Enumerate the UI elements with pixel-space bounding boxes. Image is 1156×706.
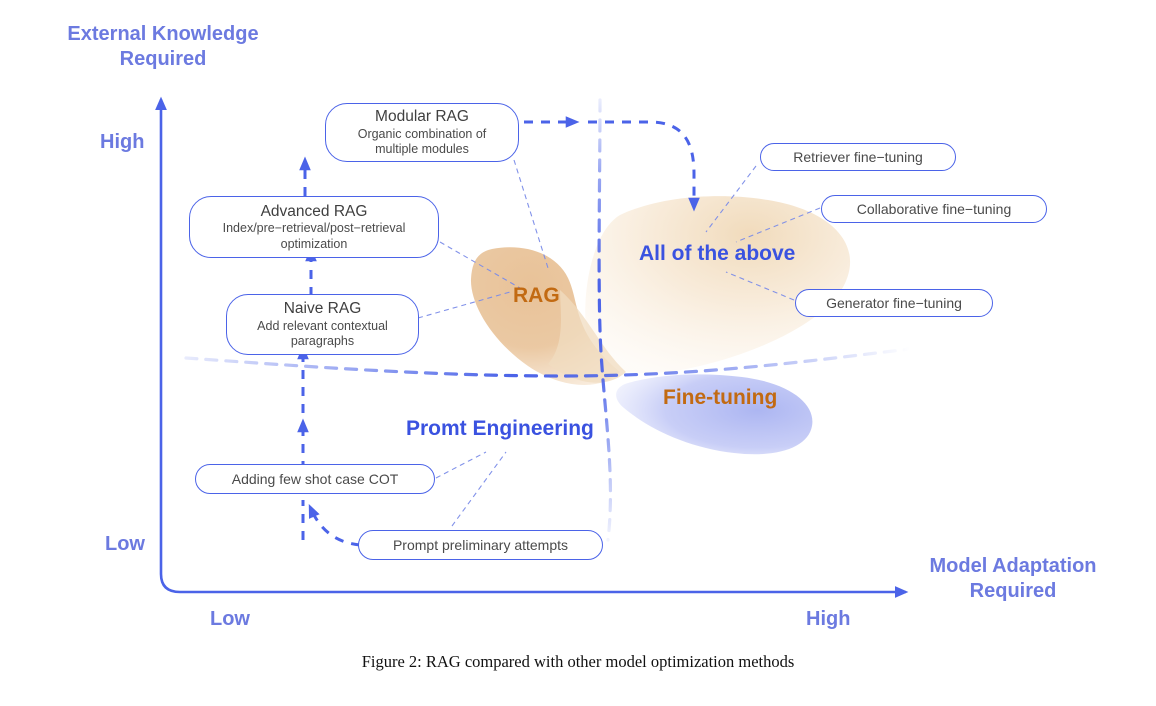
x-axis-title-line1: Model Adaptation — [888, 554, 1138, 579]
region-label-all-of-the-above: All of the above — [639, 242, 795, 266]
region-label-rag: RAG — [513, 284, 560, 308]
x-axis-tick-low: Low — [210, 608, 250, 631]
y-axis-title-line2: Required — [28, 47, 298, 72]
y-axis-tick-low: Low — [105, 533, 145, 556]
region-label-fine-tuning: Fine-tuning — [663, 386, 777, 410]
node-modular-rag-subtitle: Organic combination of multiple modules — [358, 127, 487, 158]
region-label-promt-engineering: Promt Engineering — [406, 417, 594, 441]
node-naive-rag-title: Naive RAG — [284, 299, 362, 318]
node-advanced-rag[interactable]: Advanced RAG Index/pre−retrieval/post−re… — [189, 196, 439, 258]
pill-collaborative-fine-tuning-label: Collaborative fine−tuning — [857, 201, 1012, 217]
x-axis-tick-high: High — [806, 608, 850, 631]
node-modular-rag-title: Modular RAG — [375, 107, 469, 126]
y-axis-tick-high: High — [100, 131, 144, 154]
x-axis-title-line2: Required — [888, 579, 1138, 604]
y-axis-title-line1: External Knowledge — [28, 22, 298, 47]
pill-prompt-preliminary-attempts-label: Prompt preliminary attempts — [393, 537, 568, 553]
pill-generator-fine-tuning-label: Generator fine−tuning — [826, 295, 962, 311]
pill-retriever-fine-tuning-label: Retriever fine−tuning — [793, 149, 923, 165]
pill-collaborative-fine-tuning[interactable]: Collaborative fine−tuning — [821, 195, 1047, 223]
y-axis-title: External Knowledge Required — [28, 22, 298, 72]
arrow-modular-to-all — [588, 122, 694, 206]
pill-adding-few-shot-case-cot-label: Adding few shot case COT — [232, 471, 399, 487]
pill-retriever-fine-tuning[interactable]: Retriever fine−tuning — [760, 143, 956, 171]
x-axis-title: Model Adaptation Required — [888, 554, 1138, 604]
node-advanced-rag-title: Advanced RAG — [261, 202, 368, 221]
node-naive-rag-subtitle: Add relevant contextual paragraphs — [257, 319, 388, 350]
region-blob-all-of-the-above — [585, 196, 850, 373]
arrow-preliminary-to-cot — [311, 509, 360, 545]
node-modular-rag[interactable]: Modular RAG Organic combination of multi… — [325, 103, 519, 162]
figure-canvas: External Knowledge Required Model Adapta… — [0, 0, 1156, 706]
pill-prompt-preliminary-attempts[interactable]: Prompt preliminary attempts — [358, 530, 603, 560]
node-naive-rag[interactable]: Naive RAG Add relevant contextual paragr… — [226, 294, 419, 355]
node-advanced-rag-subtitle: Index/pre−retrieval/post−retrieval optim… — [223, 221, 406, 252]
pill-adding-few-shot-case-cot[interactable]: Adding few shot case COT — [195, 464, 435, 494]
pill-generator-fine-tuning[interactable]: Generator fine−tuning — [795, 289, 993, 317]
figure-caption: Figure 2: RAG compared with other model … — [0, 652, 1156, 672]
